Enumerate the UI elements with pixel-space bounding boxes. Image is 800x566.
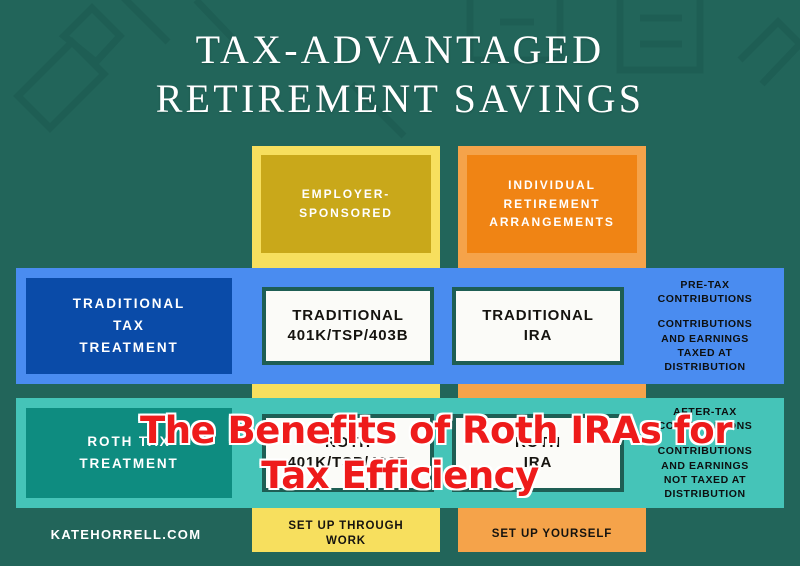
- promo-overlay-line-1: The Benefits of Roth IRAs for: [140, 408, 660, 453]
- category-header-individual-retirement-arrangements-label: INDIVIDUALRETIREMENTARRANGEMENTS: [467, 155, 637, 253]
- footer-action-set-up-yourself[interactable]: SET UP YOURSELF: [458, 516, 646, 552]
- page-title-line-2: RETIREMENT SAVINGS: [0, 75, 800, 124]
- infographic-canvas: TAX-ADVANTAGED RETIREMENT SAVINGS EMPLOY…: [0, 0, 800, 566]
- site-credit[interactable]: KATEHORRELL.COM: [0, 527, 252, 542]
- card-traditional-ira[interactable]: TRADITIONALIRA: [452, 287, 624, 365]
- page-title: TAX-ADVANTAGED RETIREMENT SAVINGS: [0, 26, 800, 124]
- promo-overlay-line-2: Tax Efficiency: [140, 453, 660, 498]
- page-title-line-1: TAX-ADVANTAGED: [0, 26, 800, 75]
- category-header-employer-sponsored[interactable]: EMPLOYER-SPONSORED: [252, 146, 440, 262]
- row-traditional-tax-treatment: TRADITIONALTAXTREATMENT TRADITIONAL401K/…: [16, 268, 784, 384]
- row-traditional-treatment-label: TRADITIONALTAXTREATMENT: [26, 278, 232, 374]
- category-header-individual-retirement-arrangements[interactable]: INDIVIDUALRETIREMENTARRANGEMENTS: [458, 146, 646, 262]
- row-traditional-notes: PRE-TAXCONTRIBUTIONS CONTRIBUTIONSAND EA…: [624, 278, 774, 374]
- category-header-employer-sponsored-label: EMPLOYER-SPONSORED: [261, 155, 431, 253]
- card-traditional-employer-plan[interactable]: TRADITIONAL401K/TSP/403B: [262, 287, 434, 365]
- row-roth-note-taxation: CONTRIBUTIONSAND EARNINGSNOT TAXED ATDIS…: [658, 444, 753, 500]
- promo-overlay-text: The Benefits of Roth IRAs for Tax Effici…: [140, 408, 660, 498]
- row-traditional-note-contributions: PRE-TAXCONTRIBUTIONS: [658, 278, 753, 306]
- row-traditional-note-taxation: CONTRIBUTIONSAND EARNINGSTAXED ATDISTRIB…: [658, 317, 753, 373]
- footer-action-set-up-through-work[interactable]: SET UP THROUGHWORK: [252, 516, 440, 552]
- footer: KATEHORRELL.COM SET UP THROUGHWORK SET U…: [0, 512, 800, 556]
